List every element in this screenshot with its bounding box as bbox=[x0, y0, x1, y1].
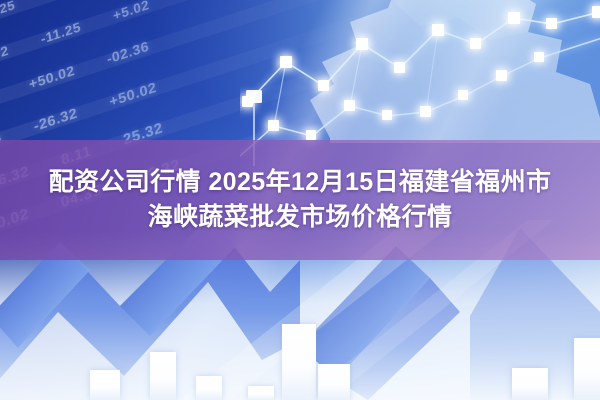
banner-image: +50.02 -11.25 -02.36 +45.02 21.06 -02.36… bbox=[0, 0, 600, 400]
bar-column bbox=[248, 386, 274, 400]
bar-column bbox=[512, 368, 548, 400]
bar-column bbox=[90, 370, 120, 400]
page-title-line-2: 海峡蔬菜批发市场价格行情 bbox=[148, 200, 453, 236]
bar-column bbox=[150, 352, 176, 400]
bar-column bbox=[196, 376, 222, 400]
bar-column bbox=[574, 338, 600, 400]
headline-band: 配资公司行情 2025年12月15日福建省福州市 海峡蔬菜批发市场价格行情 bbox=[0, 140, 600, 260]
bar-column bbox=[318, 364, 350, 400]
bar-chart-columns bbox=[0, 290, 600, 400]
bar-column bbox=[282, 324, 316, 400]
page-title-line-1: 配资公司行情 2025年12月15日福建省福州市 bbox=[49, 165, 552, 201]
